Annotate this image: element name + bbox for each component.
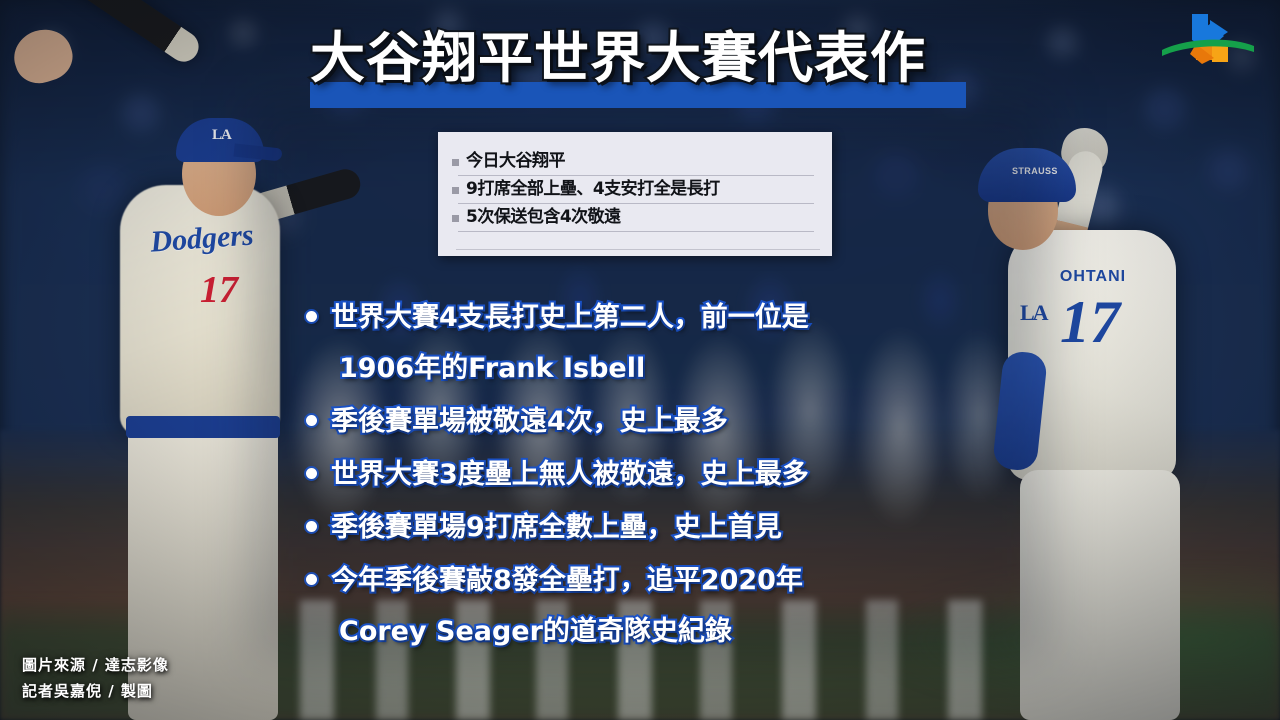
image-source-credit: 圖片來源 / 達志影像	[22, 652, 169, 678]
reporter-credit: 記者吳嘉倪 / 製圖	[22, 678, 169, 704]
bullet-dot-icon	[306, 415, 317, 426]
highlight-text: 世界大賽3度壘上無人被敬遠，史上最多	[331, 449, 809, 500]
square-bullet-icon	[452, 187, 459, 194]
note-line: 9打席全部上壘、4支安打全是長打	[452, 176, 818, 204]
note-line: 今日大谷翔平	[452, 148, 818, 176]
square-bullet-icon	[452, 159, 459, 166]
page-title: 大谷翔平世界大賽代表作	[310, 30, 980, 88]
list-item: 世界大賽3度壘上無人被敬遠，史上最多	[306, 449, 1036, 500]
title-block: 大谷翔平世界大賽代表作	[310, 30, 980, 110]
list-item: 世界大賽4支長打史上第二人，前一位是 1906年的Frank Isbell	[306, 292, 1036, 394]
square-bullet-icon	[452, 215, 459, 222]
highlight-line-1: 季後賽單場被敬遠4次，史上最多	[331, 406, 728, 437]
bullet-dot-icon	[306, 311, 317, 322]
highlight-text: 世界大賽4支長打史上第二人，前一位是 1906年的Frank Isbell	[331, 292, 809, 394]
highlight-line-1: 世界大賽3度壘上無人被敬遠，史上最多	[331, 459, 809, 490]
list-item: 季後賽單場被敬遠4次，史上最多	[306, 396, 1036, 447]
highlight-text: 季後賽單場被敬遠4次，史上最多	[331, 396, 728, 447]
note-line-text: 今日大谷翔平	[466, 148, 565, 174]
note-bottom-rule	[456, 249, 820, 250]
highlight-line-2: 1906年的Frank Isbell	[331, 343, 809, 394]
bullet-dot-icon	[306, 574, 317, 585]
today-summary-box: 今日大谷翔平 9打席全部上壘、4支安打全是長打 5次保送包含4次敬遠	[438, 132, 832, 256]
infographic-content: 大谷翔平世界大賽代表作 今日大谷翔平 9打席全部上壘、4支安打全是長打 5次保送…	[0, 0, 1280, 720]
highlight-line-1: 今年季後賽敲8發全壘打，追平2020年	[331, 565, 803, 596]
note-line: 5次保送包含4次敬遠	[452, 204, 818, 232]
highlight-line-2: Corey Seager的道奇隊史紀錄	[331, 606, 803, 657]
k-logo-icon	[1162, 6, 1254, 64]
highlight-text: 季後賽單場9打席全數上壘，史上首見	[331, 502, 782, 553]
credit-block: 圖片來源 / 達志影像 記者吳嘉倪 / 製圖	[22, 652, 169, 704]
bullet-dot-icon	[306, 468, 317, 479]
highlight-line-1: 季後賽單場9打席全數上壘，史上首見	[331, 512, 782, 543]
highlight-text: 今年季後賽敲8發全壘打，追平2020年 Corey Seager的道奇隊史紀錄	[331, 555, 803, 657]
note-line-text: 5次保送包含4次敬遠	[466, 204, 621, 230]
ktsf-k-logo	[1162, 6, 1254, 64]
note-line-text: 9打席全部上壘、4支安打全是長打	[466, 176, 720, 202]
list-item: 季後賽單場9打席全數上壘，史上首見	[306, 502, 1036, 553]
bullet-dot-icon	[306, 521, 317, 532]
highlight-line-1: 世界大賽4支長打史上第二人，前一位是	[331, 302, 809, 333]
highlights-list: 世界大賽4支長打史上第二人，前一位是 1906年的Frank Isbell 季後…	[306, 292, 1036, 659]
list-item: 今年季後賽敲8發全壘打，追平2020年 Corey Seager的道奇隊史紀錄	[306, 555, 1036, 657]
